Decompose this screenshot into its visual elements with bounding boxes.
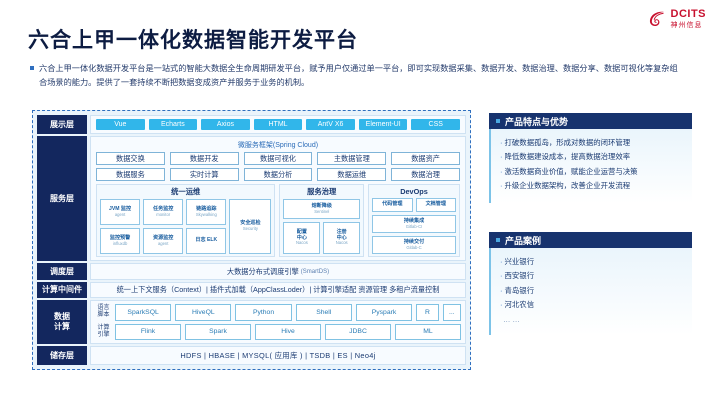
data-compute-label-engine: 计算 引擎 [95, 324, 112, 341]
tech-tag[interactable]: CSS [411, 119, 460, 130]
feature-item: 升级企业数据架构，改善企业开发流程 [500, 179, 683, 193]
panel-product-cases: 产品案例 兴业银行 西安银行 青岛银行 河北农信 …… [489, 232, 692, 335]
scheduling-engine-code: (SmartDS) [301, 269, 329, 275]
engine-chip-row: Flink Spark Hive JDBC ML [115, 324, 461, 341]
devops-item-name: 代码管理 [382, 202, 402, 208]
devops-item-code-management[interactable]: 代码管理 [372, 198, 412, 212]
case-item-more: …… [500, 313, 683, 326]
architecture-diagram: 展示层 Vue Echarts Axios HTML AntV X6 Eleme… [32, 110, 471, 370]
service-module[interactable]: 数据治理 [391, 168, 460, 181]
brand-name-en: DCITS [671, 9, 707, 20]
governance-item-sub: Sentinel [314, 210, 329, 215]
service-module[interactable]: 数据交换 [96, 152, 165, 165]
service-module[interactable]: 实时计算 [170, 168, 239, 181]
slide-root: DCITS 神州信息 六合上甲一体化数据智能开发平台 六合上甲一体化数据开发平台… [0, 0, 720, 405]
layer-presentation: 展示层 Vue Echarts Axios HTML AntV X6 Eleme… [37, 115, 466, 134]
ops-item-sub: Skywalking [196, 213, 217, 218]
service-module[interactable]: 数据服务 [96, 168, 165, 181]
case-item: 青岛银行 [500, 284, 683, 298]
engine-chip[interactable]: JDBC [325, 324, 391, 341]
tech-tag[interactable]: AntV X6 [306, 119, 355, 130]
governance-item-sub: Nacos [336, 241, 348, 246]
script-chip[interactable]: Python [235, 304, 291, 321]
layer-label-middleware: 计算中间件 [37, 282, 87, 298]
ops-item-sub: agent [115, 213, 125, 218]
data-compute-label-script: 语言 脚本 [95, 304, 112, 321]
middleware-content: 统一上下文服务（Context）| 插件式加载（AppClassLoder）| … [90, 282, 466, 298]
ops-item-sub: monitor [156, 213, 170, 218]
ops-item[interactable]: 日志 ELK [186, 228, 226, 254]
data-compute-content: 语言 脚本 计算 引擎 [90, 300, 466, 344]
devops-item-sub: Gitlab-CI [406, 225, 423, 230]
ops-item-security[interactable]: 安全巡检 Security [229, 199, 271, 254]
service-module[interactable]: 主数据管理 [317, 152, 386, 165]
group-title-governance: 服务治理 [283, 187, 360, 197]
tech-tag[interactable]: Vue [96, 119, 145, 130]
bullet-square-icon [496, 119, 500, 123]
page-intro-text: 六合上甲一体化数据开发平台是一站式的智能大数据全生命周期研发平台，赋予用户仅通过… [39, 62, 685, 91]
service-module[interactable]: 数据分析 [244, 168, 313, 181]
engine-chip[interactable]: Spark [185, 324, 251, 341]
script-chip[interactable]: R [416, 304, 439, 321]
script-chip[interactable]: SparkSQL [115, 304, 171, 321]
layer-label-storage: 储存层 [37, 346, 87, 365]
layer-middleware: 计算中间件 统一上下文服务（Context）| 插件式加载（AppClassLo… [37, 282, 466, 298]
service-module-row-1: 数据交换 数据开发 数据可视化 主数据管理 数据资产 [96, 152, 460, 165]
presentation-tags: Vue Echarts Axios HTML AntV X6 Element-U… [90, 115, 466, 134]
page-title: 六合上甲一体化数据智能开发平台 [28, 24, 358, 54]
devops-item-sub: Gitlab-C [406, 246, 421, 251]
storage-components: HDFS | HBASE | MYSQL( 应用库 ) | TSDB | ES … [91, 347, 465, 364]
devops-item-cd[interactable]: 持续交付 Gitlab-C [372, 236, 456, 254]
script-chip[interactable]: Shell [296, 304, 352, 321]
bullet-square-icon [496, 238, 500, 242]
panel-title-features: 产品特点与优势 [505, 115, 568, 128]
brand-logo: DCITS 神州信息 [647, 9, 707, 29]
dcits-swirl-icon [647, 9, 667, 29]
service-module[interactable]: 数据资产 [391, 152, 460, 165]
ops-item[interactable]: 资源监控 agent [143, 228, 183, 254]
service-content: 微服务框架(Spring Cloud) 数据交换 数据开发 数据可视化 主数据管… [90, 136, 466, 261]
layer-scheduling: 调度层 大数据分布式调度引擎 (SmartDS) [37, 263, 466, 280]
group-title-ops: 统一运维 [100, 187, 271, 197]
script-chip-more[interactable]: ... [443, 304, 461, 321]
engine-label-line1: 计算 [97, 325, 109, 331]
feature-item: 激活数据商业价值，赋能企业运营与决策 [500, 165, 683, 179]
panel-body-cases: 兴业银行 西安银行 青岛银行 河北农信 …… [489, 248, 692, 335]
engine-chip[interactable]: ML [395, 324, 461, 341]
layer-label-scheduling: 调度层 [37, 263, 87, 280]
layer-label-service: 服务层 [37, 136, 87, 261]
ops-item[interactable]: 监控预警 influxdb [100, 228, 140, 254]
layer-label-presentation: 展示层 [37, 115, 87, 134]
devops-item-ci[interactable]: 持续集成 Gitlab-CI [372, 215, 456, 233]
engine-chip[interactable]: Flink [115, 324, 181, 341]
tech-tag[interactable]: HTML [254, 119, 303, 130]
engine-label-line2: 引擎 [97, 332, 109, 338]
group-title-devops: DevOps [372, 187, 456, 196]
case-item: 河北农信 [500, 298, 683, 312]
group-unified-ops: 统一运维 JVM 监控 agent [96, 184, 275, 257]
page-intro: 六合上甲一体化数据开发平台是一站式的智能大数据全生命周期研发平台，赋予用户仅通过… [30, 62, 685, 91]
panel-product-features: 产品特点与优势 打破数据孤岛，形成对数据的闭环管理 降低数据建设成本，提高数据治… [489, 113, 692, 203]
case-item: 西安银行 [500, 269, 683, 283]
devops-item-doc-management[interactable]: 文档管理 [416, 198, 456, 212]
governance-item-registry-center[interactable]: 注册 中心 Nacos [323, 222, 360, 254]
script-label-line2: 脚本 [97, 312, 109, 318]
script-chip[interactable]: HiveQL [175, 304, 231, 321]
case-item: 兴业银行 [500, 255, 683, 269]
storage-content: HDFS | HBASE | MYSQL( 应用库 ) | TSDB | ES … [90, 346, 466, 365]
bullet-square-icon [30, 66, 34, 70]
layer-label-data-compute: 数据 计算 [37, 300, 87, 344]
ops-item-sub: Security [243, 227, 258, 232]
brand-wordmark: DCITS 神州信息 [671, 9, 707, 29]
ops-item-sub: agent [158, 242, 168, 247]
layer-label-data-line1: 数据 [54, 312, 70, 321]
tech-tag[interactable]: Axios [201, 119, 250, 130]
feature-item: 打破数据孤岛，形成对数据的闭环管理 [500, 136, 683, 150]
script-label-line1: 语言 [97, 305, 109, 311]
service-module[interactable]: 数据运维 [317, 168, 386, 181]
panel-header-features: 产品特点与优势 [489, 113, 692, 129]
service-module[interactable]: 数据开发 [170, 152, 239, 165]
ops-item-name: 日志 ELK [195, 238, 217, 244]
layer-data-compute: 数据 计算 语言 脚本 [37, 300, 466, 344]
group-service-governance: 服务治理 熔断降级 Sentinel [279, 184, 364, 257]
scheduling-content: 大数据分布式调度引擎 (SmartDS) [90, 263, 466, 280]
devops-item-name: 文档管理 [426, 202, 446, 208]
panel-header-cases: 产品案例 [489, 232, 692, 248]
tech-tag[interactable]: Echarts [149, 119, 198, 130]
ops-item[interactable]: 链路追踪 Skywalking [186, 199, 226, 225]
script-chip-row: SparkSQL HiveQL Python Shell Pyspark R .… [115, 304, 461, 321]
ops-item[interactable]: JVM 监控 agent [100, 199, 140, 225]
service-module-row-2: 数据服务 实时计算 数据分析 数据运维 数据治理 [96, 168, 460, 181]
engine-chip[interactable]: Hive [255, 324, 321, 341]
layer-storage: 储存层 HDFS | HBASE | MYSQL( 应用库 ) | TSDB |… [37, 346, 466, 365]
ops-item[interactable]: 任务监控 monitor [143, 199, 183, 225]
governance-item-circuit-breaker[interactable]: 熔断降级 Sentinel [283, 199, 360, 219]
governance-item-sub: Nacos [296, 241, 308, 246]
scheduling-engine-name: 大数据分布式调度引擎 [227, 267, 299, 277]
layer-label-data-line2: 计算 [54, 322, 70, 331]
script-chip[interactable]: Pyspark [356, 304, 412, 321]
panel-body-features: 打破数据孤岛，形成对数据的闭环管理 降低数据建设成本，提高数据治理效率 激活数据… [489, 129, 692, 203]
governance-item-config-center[interactable]: 配置 中心 Nacos [283, 222, 320, 254]
spring-cloud-title: 微服务框架(Spring Cloud) [96, 140, 460, 150]
middleware-capabilities: 统一上下文服务（Context）| 插件式加载（AppClassLoder）| … [91, 283, 465, 297]
brand-name-cn: 神州信息 [671, 22, 707, 29]
feature-item: 降低数据建设成本，提高数据治理效率 [500, 150, 683, 164]
layer-service: 服务层 微服务框架(Spring Cloud) 数据交换 数据开发 数据可视化 … [37, 136, 466, 261]
panel-title-cases: 产品案例 [505, 234, 541, 247]
group-devops: DevOps 代码管理 文档管理 [368, 184, 460, 257]
service-module[interactable]: 数据可视化 [244, 152, 313, 165]
tech-tag[interactable]: Element-UI [359, 119, 408, 130]
ops-item-sub: influxdb [113, 242, 127, 247]
